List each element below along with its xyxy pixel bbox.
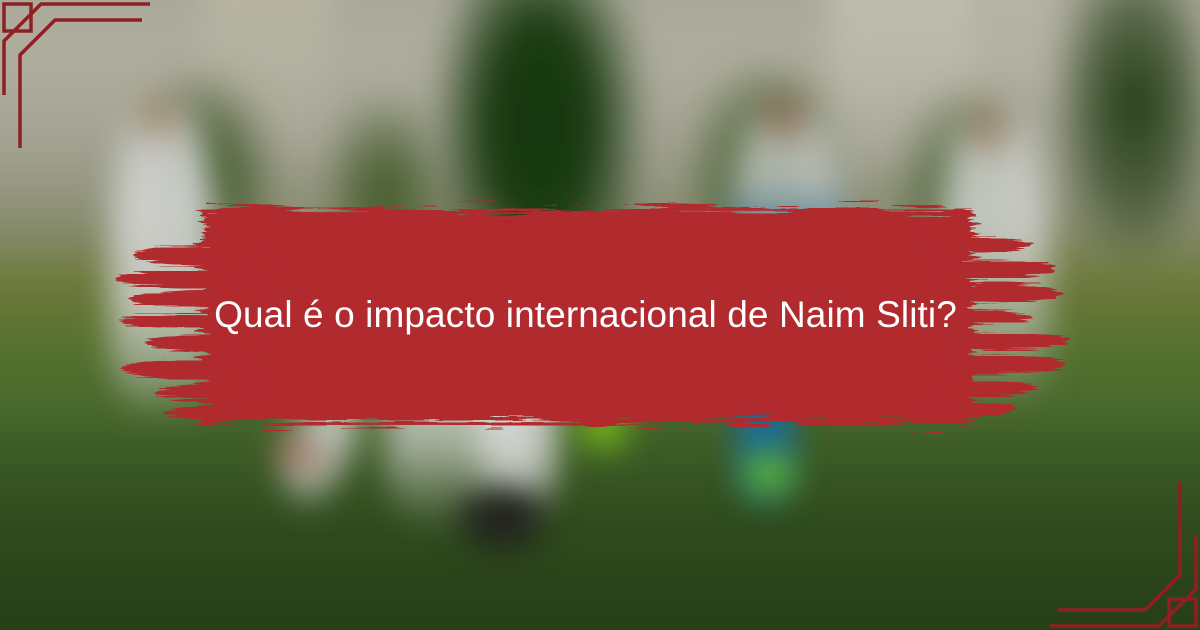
social-share-card: Qual é o impacto internacional de Naim S… xyxy=(0,0,1200,630)
ornament-inner-line xyxy=(20,20,142,148)
page-title: Qual é o impacto internacional de Naim S… xyxy=(214,292,957,338)
corner-ornament-top-left xyxy=(0,0,160,160)
headline-container: Qual é o impacto internacional de Naim S… xyxy=(133,193,1038,438)
corner-ornament-bottom-right xyxy=(1040,470,1200,630)
ornament-inner-line xyxy=(1058,482,1180,610)
